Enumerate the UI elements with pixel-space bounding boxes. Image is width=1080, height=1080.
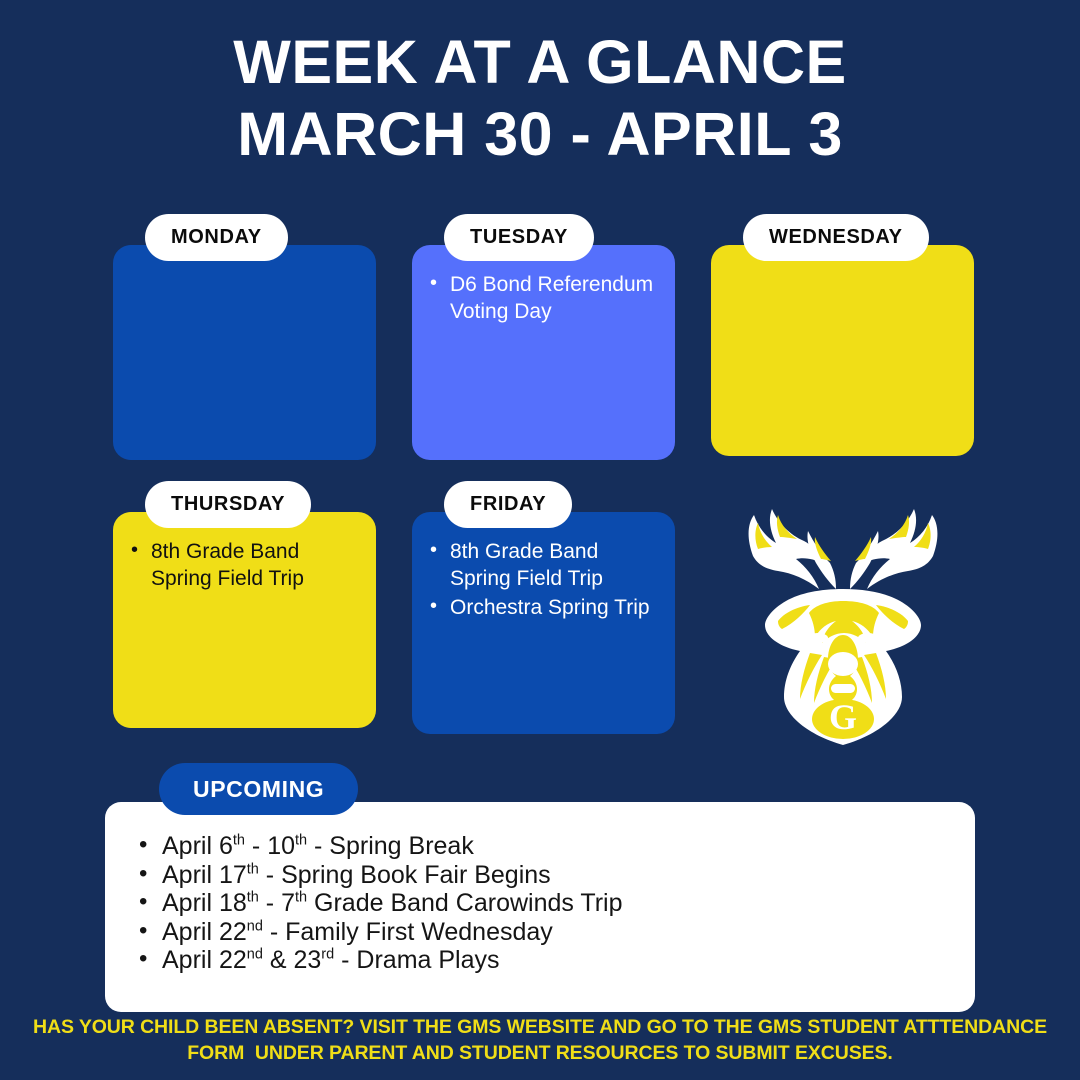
deer-mascot-logo: G (718, 501, 968, 746)
upcoming-box[interactable]: April 6th - 10th - Spring Break April 17… (105, 802, 975, 1012)
day-card-tuesday[interactable]: D6 Bond Referendum Voting Day (412, 245, 675, 460)
week-grid: MONDAY TUESDAY D6 Bond Referendum Voting… (113, 214, 976, 746)
upcoming-list: April 6th - 10th - Spring Break April 17… (135, 832, 949, 975)
title-line-2: MARCH 30 - APRIL 3 (0, 98, 1080, 170)
list-item: Orchestra Spring Trip (428, 594, 657, 621)
upcoming-badge: UPCOMING (159, 763, 358, 815)
list-item: D6 Bond Referendum Voting Day (428, 271, 657, 325)
day-cell-tuesday: TUESDAY D6 Bond Referendum Voting Day (412, 214, 675, 460)
list-item: April 18th - 7th Grade Band Carowinds Tr… (135, 889, 949, 918)
day-card-thursday[interactable]: 8th Grade Band Spring Field Trip (113, 512, 376, 728)
event-list-friday: 8th Grade Band Spring Field Trip Orchest… (428, 538, 657, 621)
day-badge-friday: FRIDAY (444, 481, 572, 528)
day-badge-thursday: THURSDAY (145, 481, 311, 528)
event-list-tuesday: D6 Bond Referendum Voting Day (428, 271, 657, 325)
list-item: April 6th - 10th - Spring Break (135, 832, 949, 861)
day-badge-tuesday: TUESDAY (444, 214, 594, 261)
list-item: 8th Grade Band Spring Field Trip (428, 538, 657, 592)
day-cell-thursday: THURSDAY 8th Grade Band Spring Field Tri… (113, 481, 376, 746)
week-row-2: THURSDAY 8th Grade Band Spring Field Tri… (113, 481, 976, 746)
day-card-wednesday[interactable] (711, 245, 974, 456)
list-item: April 22nd - Family First Wednesday (135, 918, 949, 947)
logo-monogram: G (828, 697, 856, 737)
week-row-1: MONDAY TUESDAY D6 Bond Referendum Voting… (113, 214, 976, 460)
day-cell-monday: MONDAY (113, 214, 376, 460)
day-badge-monday: MONDAY (145, 214, 288, 261)
title-line-1: WEEK AT A GLANCE (0, 26, 1080, 98)
list-item: April 17th - Spring Book Fair Begins (135, 861, 949, 890)
list-item: April 22nd & 23rd - Drama Plays (135, 946, 949, 975)
upcoming-section: UPCOMING April 6th - 10th - Spring Break… (105, 763, 975, 1012)
day-card-monday[interactable] (113, 245, 376, 460)
day-badge-wednesday: WEDNESDAY (743, 214, 929, 261)
event-list-thursday: 8th Grade Band Spring Field Trip (129, 538, 358, 592)
list-item: 8th Grade Band Spring Field Trip (129, 538, 358, 592)
page-title: WEEK AT A GLANCE MARCH 30 - APRIL 3 (0, 0, 1080, 170)
footer-notice: HAS YOUR CHILD BEEN ABSENT? VISIT THE GM… (0, 1014, 1080, 1066)
day-cell-wednesday: WEDNESDAY (711, 214, 974, 460)
day-card-friday[interactable]: 8th Grade Band Spring Field Trip Orchest… (412, 512, 675, 734)
day-cell-friday: FRIDAY 8th Grade Band Spring Field Trip … (412, 481, 675, 746)
logo-cell: G (711, 481, 974, 746)
